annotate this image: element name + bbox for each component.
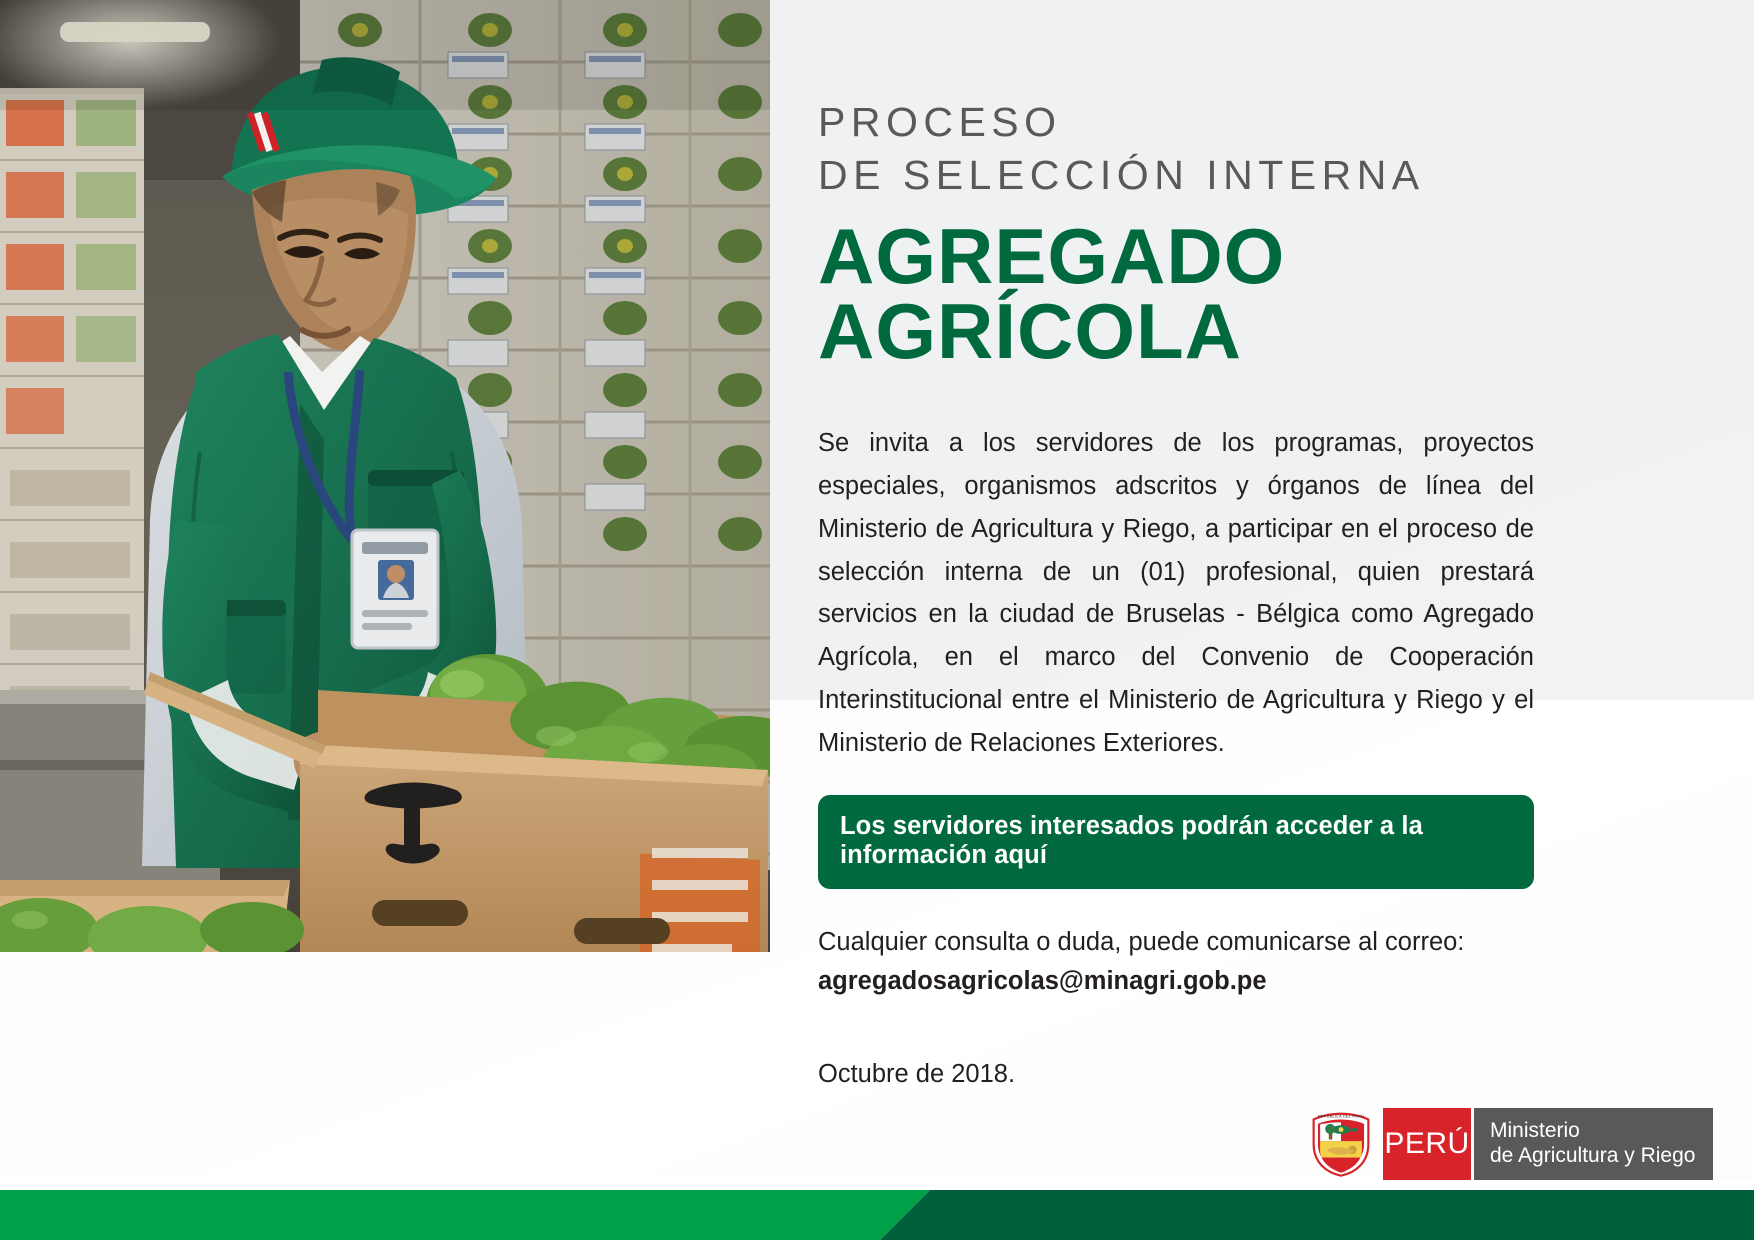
content-column: PROCESO DE SELECCIÓN INTERNA AGREGADO AG… [818,0,1538,1180]
poster-root: PROCESO DE SELECCIÓN INTERNA AGREGADO AG… [0,0,1754,1240]
hero-photo-illustration [0,0,770,952]
bottom-bar-bright [0,1190,930,1240]
contact-email[interactable]: agregadosagricolas@minagri.gob.pe [818,962,1538,1002]
publication-date: Octubre de 2018. [818,1060,1538,1089]
page-title: AGREGADO AGRÍCOLA [818,219,1538,370]
eyebrow-heading: PROCESO DE SELECCIÓN INTERNA [818,96,1538,203]
contact-instruction: Cualquier consulta o duda, puede comunic… [818,928,1464,956]
logo-country-label: PERÚ [1383,1108,1471,1180]
info-link-button[interactable]: Los servidores interesados podrán accede… [818,795,1534,889]
peru-coat-of-arms-icon: REPÚBLICA DEL PERÚ [1305,1108,1377,1180]
government-logo: REPÚBLICA DEL PERÚ PERÚ Ministerio de Ag… [1305,1108,1713,1180]
logo-ministry-label: Ministerio de Agricultura y Riego [1474,1108,1713,1180]
hero-photo [0,0,770,952]
svg-text:REPÚBLICA DEL PERÚ: REPÚBLICA DEL PERÚ [1318,1113,1364,1118]
bottom-bar-dark [880,1190,1754,1240]
bottom-accent-bar [0,1180,1754,1240]
body-paragraph: Se invita a los servidores de los progra… [818,422,1534,765]
contact-block: Cualquier consulta o duda, puede comunic… [818,923,1538,1002]
